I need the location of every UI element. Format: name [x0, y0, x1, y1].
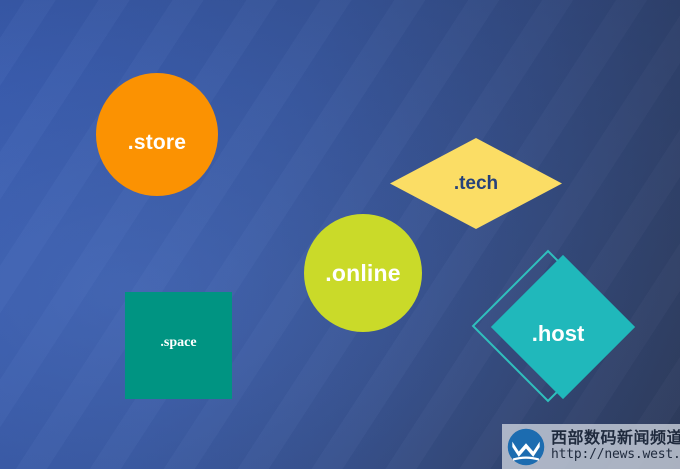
shape-online-circle: .online — [304, 214, 422, 332]
shape-space-label: .space — [125, 335, 232, 351]
shape-store-label: .store — [96, 131, 218, 155]
watermark-banner: 西部数码新闻频道 http://news.west.cn — [502, 424, 680, 469]
shape-online-label: .online — [304, 260, 422, 287]
shape-host-label: .host — [494, 321, 622, 347]
shape-host-diamond: .host — [494, 268, 622, 396]
watermark-title: 西部数码新闻频道 — [551, 431, 680, 448]
west-cn-logo-icon — [507, 428, 545, 466]
image-canvas: .store .tech .online .space .host 西部数码新闻… — [0, 0, 680, 469]
shape-tech-diamond: .tech — [390, 138, 562, 229]
shape-tech-label: .tech — [390, 173, 562, 195]
shape-space-square: .space — [125, 292, 232, 399]
shape-store-circle: .store — [96, 73, 218, 196]
watermark-text: 西部数码新闻频道 http://news.west.cn — [551, 431, 680, 462]
watermark-url: http://news.west.cn — [551, 448, 680, 462]
